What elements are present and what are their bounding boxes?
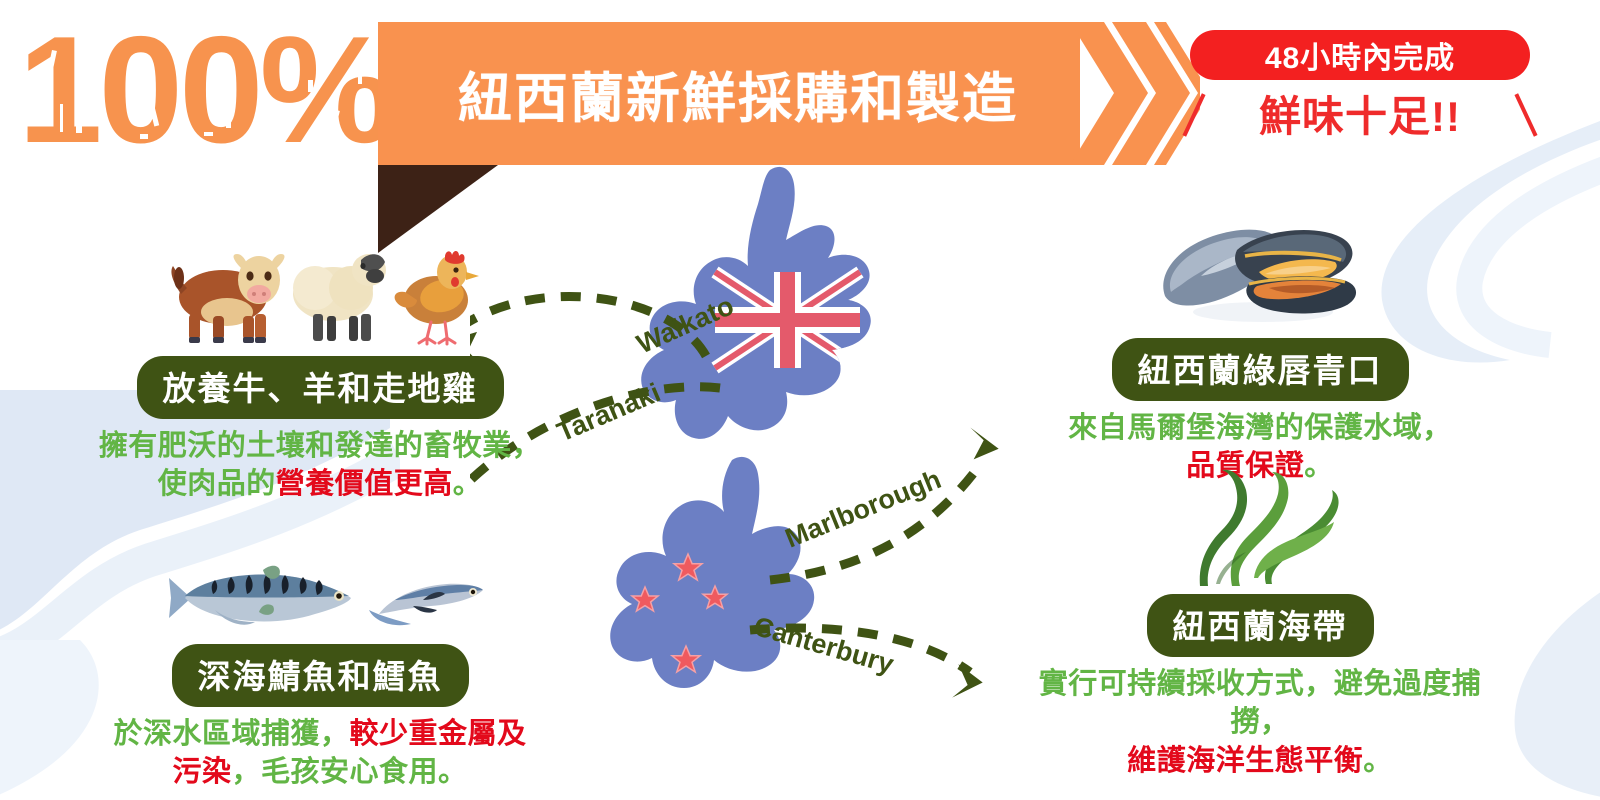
fish-illustrations bbox=[70, 528, 570, 638]
fish-description: 於深水區域捕獲，較少重金屬及 污染，毛孩安心食用。 bbox=[70, 715, 570, 792]
meat-label: 放養牛、羊和走地雞 bbox=[137, 356, 504, 419]
block-free-range-meat: 放養牛、羊和走地雞 擁有肥沃的土壤和發達的畜牧業， 使肉品的營養價值更高。 bbox=[70, 240, 570, 504]
kelp-desc-line2b: 。 bbox=[1363, 745, 1393, 777]
mussel-illustration bbox=[1010, 222, 1510, 332]
header: 100% 紐西蘭新鮮採購和製造 48小時內完成 鮮味十足!! bbox=[0, 0, 1600, 185]
meat-desc-line1: 擁有肥沃的土壤和發達的畜牧業， bbox=[99, 430, 542, 462]
kelp-description: 實行可持續採收方式，避免過度捕撈， 維護海洋生態平衡。 bbox=[1010, 665, 1510, 780]
south-island-shape bbox=[610, 457, 814, 688]
kelp-illustration bbox=[1010, 468, 1510, 588]
fish-label: 深海鯖魚和鱈魚 bbox=[172, 644, 469, 707]
kelp-desc-highlight: 維護海洋生態平衡 bbox=[1127, 745, 1363, 777]
meat-desc-highlight: 營養價值更高 bbox=[276, 468, 453, 500]
badge-main-label: 48小時內完成 bbox=[1190, 30, 1530, 80]
fish-desc-line1a: 於深水區域捕獲， bbox=[113, 718, 349, 750]
region-label-canterbury: Canterbury bbox=[750, 611, 897, 680]
sheep-icon bbox=[293, 254, 386, 341]
banner-title: 紐西蘭新鮮採購和製造 bbox=[378, 22, 1080, 165]
kelp-desc-line1: 實行可持續採收方式，避免過度捕撈， bbox=[1039, 668, 1482, 738]
meat-description: 擁有肥沃的土壤和發達的畜牧業， 使肉品的營養價值更高。 bbox=[70, 427, 570, 504]
percent-100-graphic: 100% bbox=[18, 14, 398, 164]
kelp-label: 紐西蘭海帶 bbox=[1147, 594, 1374, 657]
green-lipped-mussel-icon bbox=[1145, 220, 1375, 332]
meat-illustrations bbox=[70, 240, 570, 350]
fish-desc-highlight2: 污染 bbox=[172, 756, 231, 788]
banner-ribbon: 紐西蘭新鮮採購和製造 bbox=[378, 22, 1080, 165]
chicken-icon bbox=[395, 251, 479, 344]
fish-desc-highlight1: 較少重金屬及 bbox=[350, 718, 527, 750]
block-nz-kelp: 紐西蘭海帶 實行可持續採收方式，避免過度捕撈， 維護海洋生態平衡。 bbox=[1010, 468, 1510, 780]
mussel-label: 紐西蘭綠唇青口 bbox=[1112, 338, 1409, 401]
speed-badge: 48小時內完成 鮮味十足!! bbox=[1180, 30, 1540, 160]
block-green-lipped-mussel: 紐西蘭綠唇青口 來自馬爾堡海灣的保護水域， 品質保證。 bbox=[1010, 222, 1510, 486]
meat-desc-line2a: 使肉品的 bbox=[158, 468, 276, 500]
cow-icon bbox=[171, 254, 284, 343]
kelp-icon bbox=[1170, 466, 1350, 588]
badge-sub-label: 鮮味十足!! bbox=[1180, 82, 1540, 144]
block-deep-sea-fish: 深海鯖魚和鱈魚 於深水區域捕獲，較少重金屬及 污染，毛孩安心食用。 bbox=[70, 528, 570, 792]
fish-desc-line2b: ，毛孩安心食用。 bbox=[232, 756, 468, 788]
cod-icon bbox=[369, 584, 483, 625]
region-label-marlborough: Marlborough bbox=[781, 464, 945, 554]
mussel-desc-line1: 來自馬爾堡海灣的保護水域， bbox=[1068, 412, 1452, 444]
percent-label: 100% bbox=[18, 14, 392, 164]
meat-desc-line2b: 。 bbox=[453, 468, 483, 500]
union-jack-flag-icon bbox=[715, 272, 860, 368]
mackerel-icon bbox=[169, 566, 351, 625]
infographic-canvas: 100% 紐西蘭新鮮採購和製造 48小時內完成 鮮味十足!! bbox=[0, 0, 1600, 800]
